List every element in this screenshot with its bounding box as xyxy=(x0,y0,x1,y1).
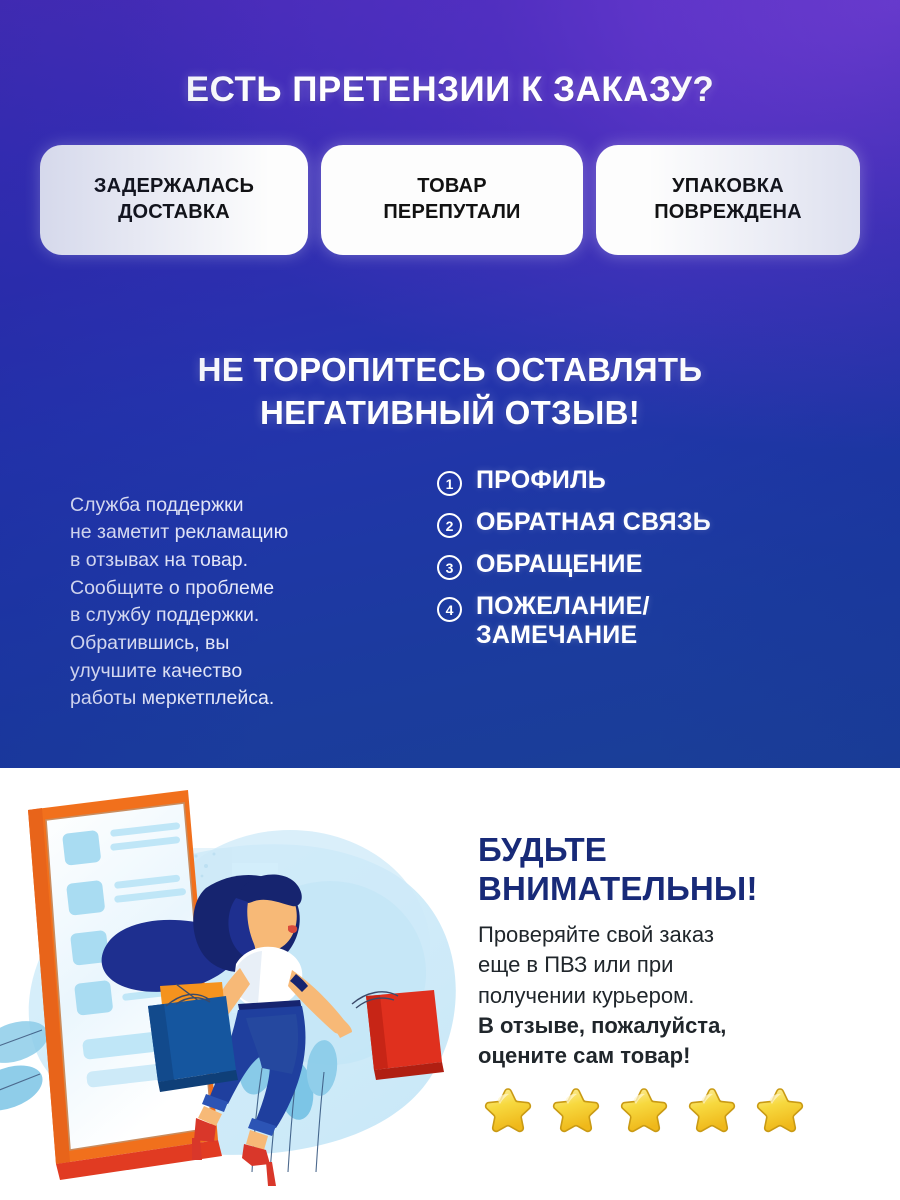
support-line-5: в службу поддержки. xyxy=(70,604,259,626)
star-icon[interactable] xyxy=(482,1085,534,1137)
support-line-7: улучшите качество xyxy=(70,660,242,682)
attention-body-line3: получении курьером. xyxy=(478,983,694,1008)
support-line-8: работы меркетплейса. xyxy=(70,687,274,709)
support-line-4: Сообщите о проблеме xyxy=(70,577,274,599)
attention-body: Проверяйте свой заказ еще в ПВЗ или при … xyxy=(478,920,873,1072)
step-number-badge: 3 xyxy=(437,555,462,580)
support-line-1: Служба поддержки xyxy=(70,494,244,516)
pill-wrong-item-line2: ПЕРЕПУТАЛИ xyxy=(383,201,520,223)
step-label-profile: ПРОФИЛЬ xyxy=(476,466,606,495)
star-icon[interactable] xyxy=(686,1085,738,1137)
pill-wrong-item[interactable]: ТОВАР ПЕРЕПУТАЛИ xyxy=(321,145,583,255)
support-paragraph: Служба поддержки не заметит рекламацию в… xyxy=(70,492,400,714)
bottom-section: БУДЬТЕ ВНИМАТЕЛЬНЫ! Проверяйте свой зака… xyxy=(0,768,900,1200)
pill-damaged-packaging-line2: ПОВРЕЖДЕНА xyxy=(654,201,802,223)
callout-line-2: НЕГАТИВНЫЙ ОТЗЫВ! xyxy=(260,394,640,431)
attention-body-bold-line2: оцените сам товар! xyxy=(478,1043,690,1068)
star-icon[interactable] xyxy=(754,1085,806,1137)
page-title: ЕСТЬ ПРЕТЕНЗИИ К ЗАКАЗУ? xyxy=(0,70,900,110)
pill-wrong-item-line1: ТОВАР xyxy=(417,175,487,197)
step-label-appeal: ОБРАЩЕНИЕ xyxy=(476,550,643,579)
steps-list: 1 ПРОФИЛЬ 2 ОБРАТНАЯ СВЯЗЬ 3 ОБРАЩЕНИЕ 4… xyxy=(437,466,867,650)
support-line-6: Обратившись, вы xyxy=(70,632,229,654)
shopping-bag-blue xyxy=(148,994,238,1092)
attention-body-line2: еще в ПВЗ или при xyxy=(478,952,673,977)
infographic-page: ЕСТЬ ПРЕТЕНЗИИ К ЗАКАЗУ? ЗАДЕРЖАЛАСЬ ДОС… xyxy=(0,0,900,1200)
pill-delivery-delayed-line1: ЗАДЕРЖАЛАСЬ xyxy=(94,175,254,197)
list-item: 4 ПОЖЕЛАНИЕ/ ЗАМЕЧАНИЕ xyxy=(437,592,867,650)
list-item: 3 ОБРАЩЕНИЕ xyxy=(437,550,867,580)
hero-section: ЕСТЬ ПРЕТЕНЗИИ К ЗАКАЗУ? ЗАДЕРЖАЛАСЬ ДОС… xyxy=(0,0,900,768)
hero-body-columns: Служба поддержки не заметит рекламацию в… xyxy=(0,466,900,716)
woman-shopping-with-phone-illustration xyxy=(0,768,470,1200)
pill-damaged-packaging-line1: УПАКОВКА xyxy=(672,175,784,197)
star-icon[interactable] xyxy=(618,1085,670,1137)
attention-heading-line1: БУДЬТЕ xyxy=(478,831,607,868)
step-number-badge: 1 xyxy=(437,471,462,496)
step-number-badge: 4 xyxy=(437,597,462,622)
attention-body-bold-line1: В отзыве, пожалуйста, xyxy=(478,1013,726,1038)
pill-delivery-delayed-line2: ДОСТАВКА xyxy=(118,201,230,223)
complaint-pill-group: ЗАДЕРЖАЛАСЬ ДОСТАВКА ТОВАР ПЕРЕПУТАЛИ УП… xyxy=(40,145,860,255)
attention-body-line1: Проверяйте свой заказ xyxy=(478,922,714,947)
rating-stars[interactable] xyxy=(482,1085,806,1137)
attention-heading: БУДЬТЕ ВНИМАТЕЛЬНЫ! xyxy=(478,831,878,909)
list-item: 1 ПРОФИЛЬ xyxy=(437,466,867,496)
support-line-3: в отзывах на товар. xyxy=(70,549,248,571)
pill-damaged-packaging[interactable]: УПАКОВКА ПОВРЕЖДЕНА xyxy=(596,145,860,255)
star-icon[interactable] xyxy=(550,1085,602,1137)
support-line-2: не заметит рекламацию xyxy=(70,521,288,543)
callout-heading: НЕ ТОРОПИТЕСЬ ОСТАВЛЯТЬ НЕГАТИВНЫЙ ОТЗЫВ… xyxy=(0,349,900,435)
attention-heading-line2: ВНИМАТЕЛЬНЫ! xyxy=(478,870,758,907)
step-number-badge: 2 xyxy=(437,513,462,538)
pill-delivery-delayed[interactable]: ЗАДЕРЖАЛАСЬ ДОСТАВКА xyxy=(40,145,308,255)
step-label-feedback: ОБРАТНАЯ СВЯЗЬ xyxy=(476,508,711,537)
list-item: 2 ОБРАТНАЯ СВЯЗЬ xyxy=(437,508,867,538)
step-label-wish-remark: ПОЖЕЛАНИЕ/ ЗАМЕЧАНИЕ xyxy=(476,592,650,650)
callout-line-1: НЕ ТОРОПИТЕСЬ ОСТАВЛЯТЬ xyxy=(198,351,703,388)
